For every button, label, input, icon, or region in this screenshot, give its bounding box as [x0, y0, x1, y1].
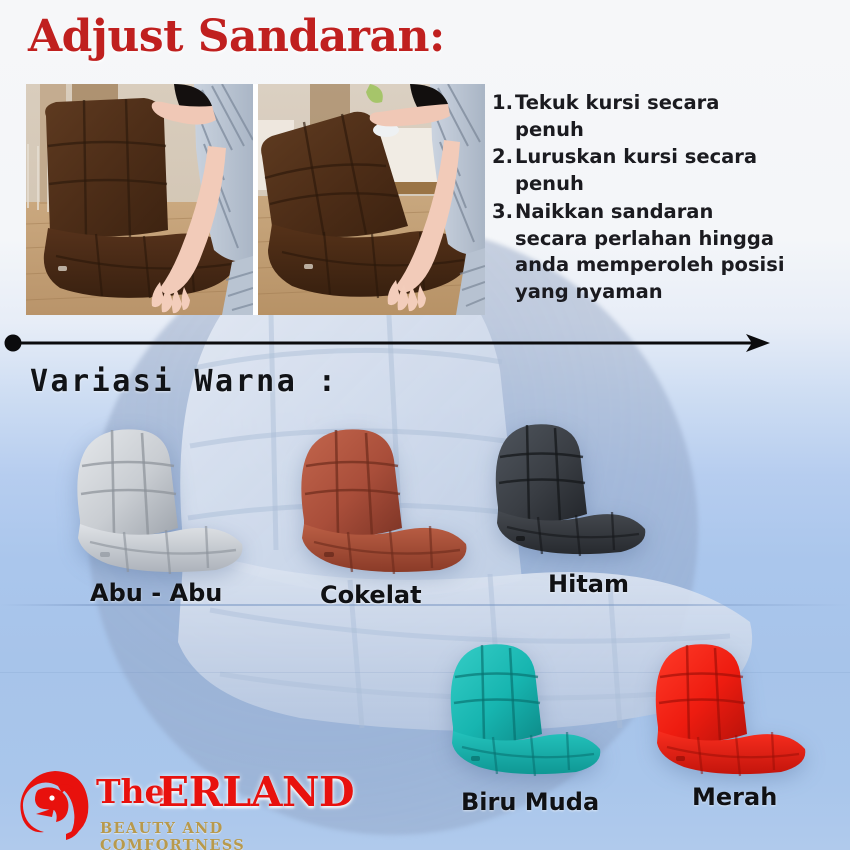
brand-tagline: BEAUTY AND COMFORTNESS — [100, 820, 338, 850]
color-swatch-hitam[interactable] — [486, 419, 666, 559]
dragon-emblem-icon — [18, 768, 92, 842]
list-item: 2. Luruskan kursi secara penuh — [492, 144, 792, 197]
step-text: Tekuk kursi secara penuh — [515, 90, 792, 143]
color-label-cokelat: Cokelat — [320, 581, 422, 609]
instruction-list: 1. Tekuk kursi secara penuh 2. Luruskan … — [492, 90, 792, 307]
page-title: Adjust Sandaran: — [28, 11, 445, 62]
color-swatch-abu-abu[interactable] — [66, 424, 266, 574]
instruction-photo-pair — [26, 84, 485, 315]
color-swatch-biru-muda[interactable] — [441, 639, 621, 779]
color-swatch-merah[interactable] — [646, 639, 826, 779]
brand-word-name: ERLAND — [158, 768, 354, 816]
brand-word-the: The — [96, 772, 166, 811]
list-item: 1. Tekuk kursi secara penuh — [492, 90, 792, 143]
section-heading-variations: Variasi Warna : — [30, 364, 338, 399]
step-number: 1. — [492, 90, 515, 143]
color-label-hitam: Hitam — [548, 570, 629, 598]
step-text: Naikkan sandaran secara perlahan hingga … — [515, 199, 792, 306]
chair-reclined-photo — [258, 84, 485, 315]
progress-arrow — [0, 330, 850, 356]
step-number: 3. — [492, 199, 515, 306]
list-item: 3. Naikkan sandaran secara perlahan hing… — [492, 199, 792, 306]
color-label-abu-abu: Abu - Abu — [90, 579, 222, 607]
step-number: 2. — [492, 144, 515, 197]
color-label-biru-muda: Biru Muda — [461, 788, 599, 816]
brand-logo: The ERLAND BEAUTY AND COMFORTNESS — [18, 766, 338, 844]
infographic-canvas: Adjust Sandaran: — [0, 0, 850, 850]
color-swatch-cokelat[interactable] — [290, 424, 490, 574]
chair-upright-photo — [26, 84, 253, 315]
step-text: Luruskan kursi secara penuh — [515, 144, 792, 197]
color-label-merah: Merah — [692, 783, 777, 811]
